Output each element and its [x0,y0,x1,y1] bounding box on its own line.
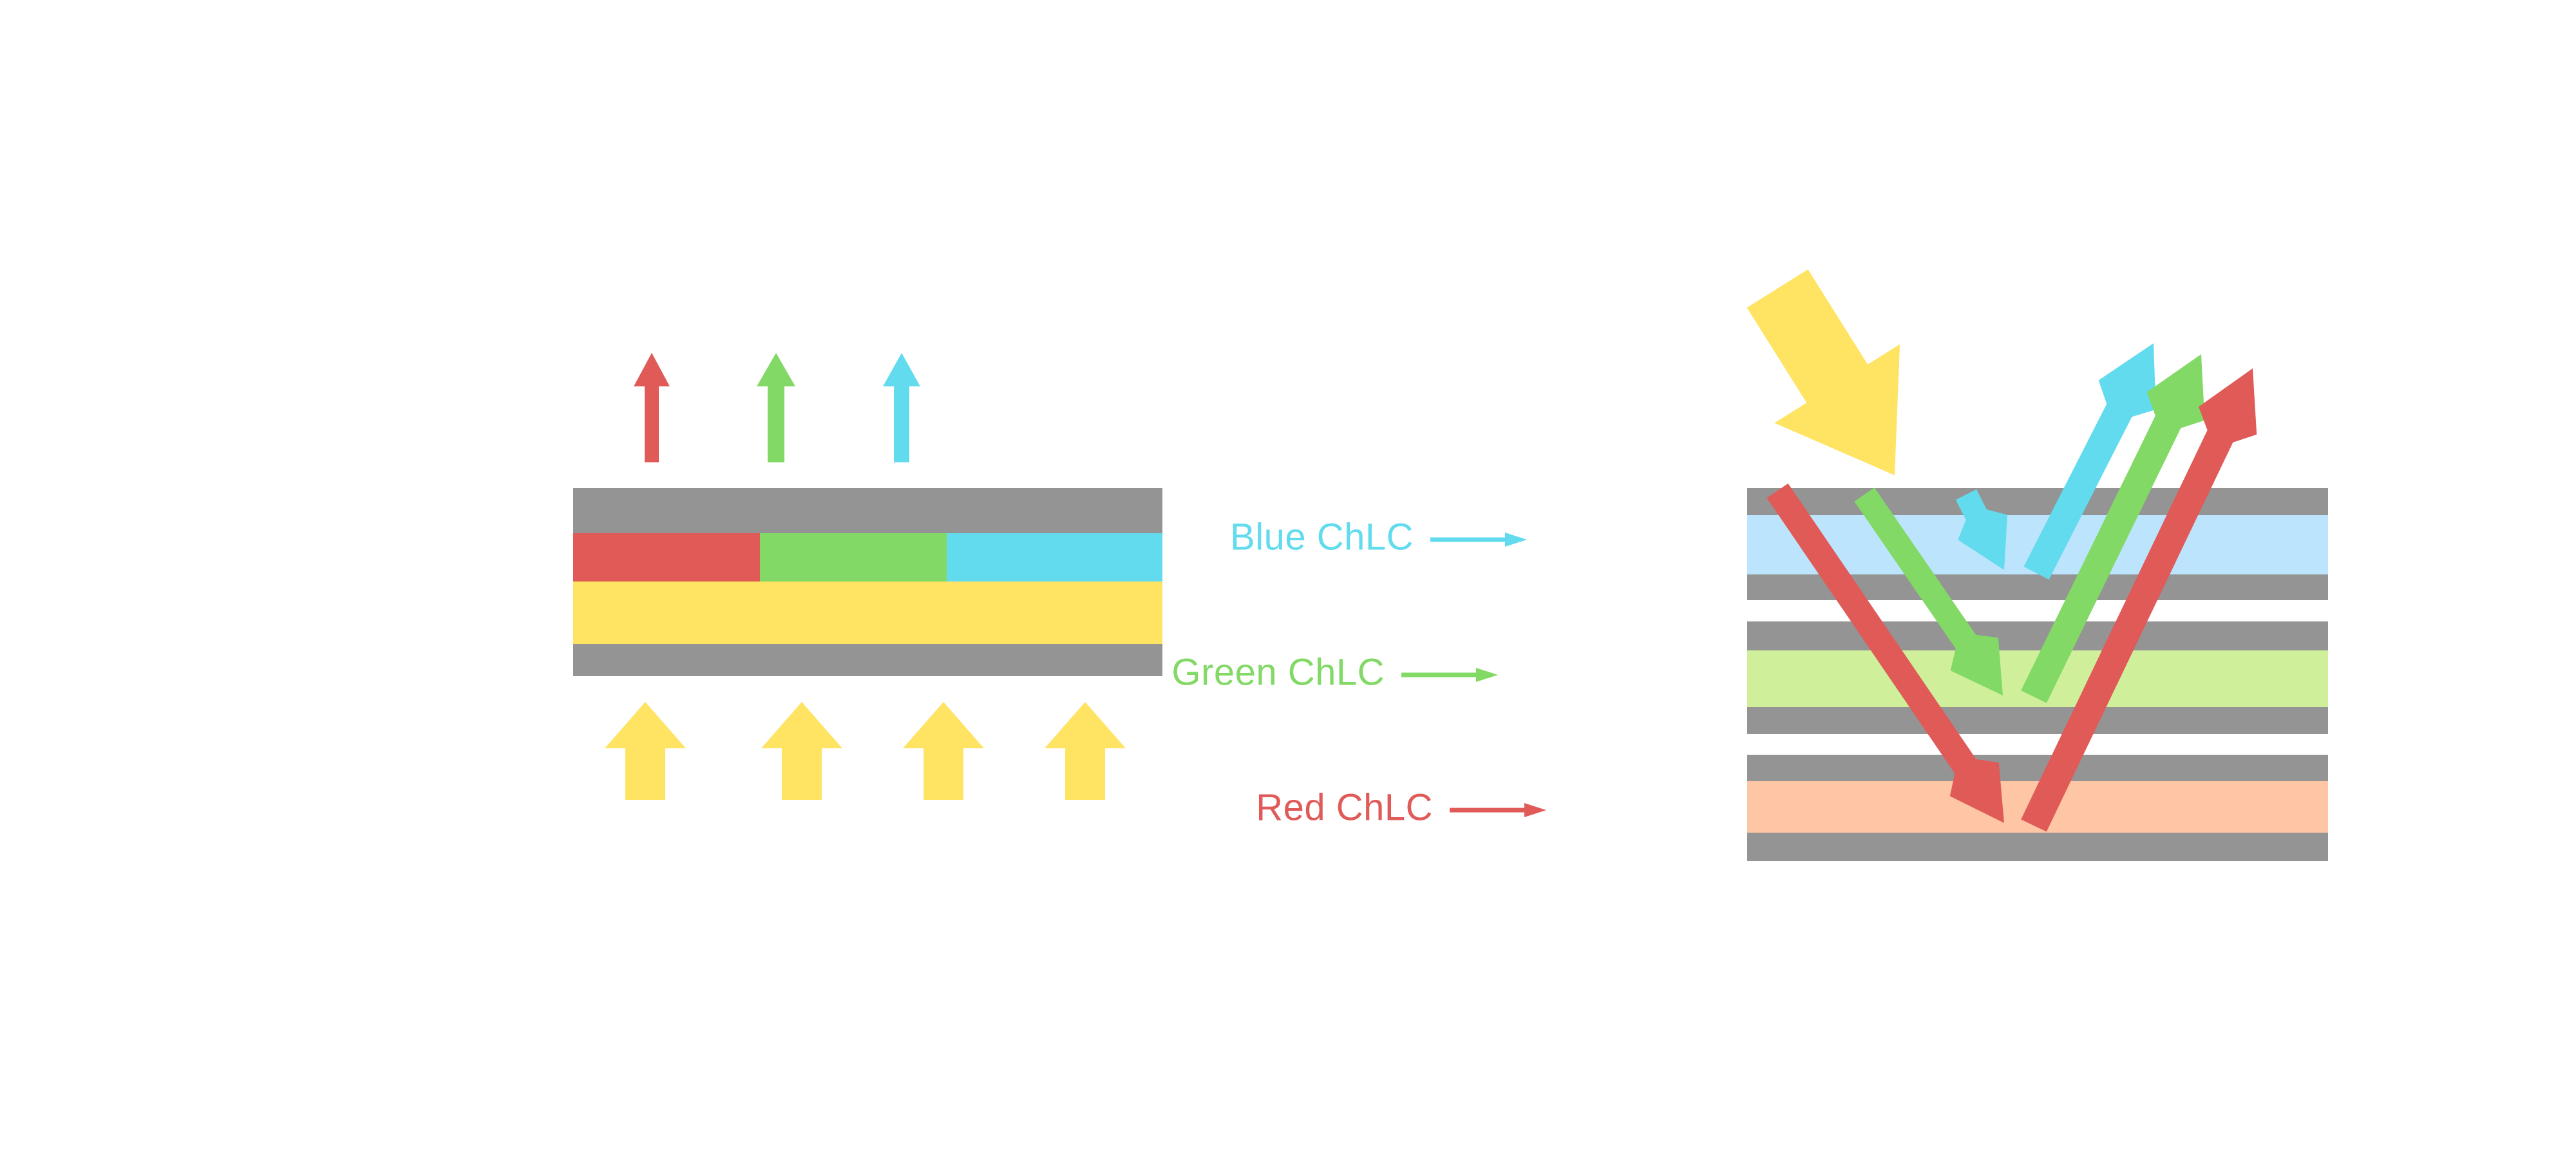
blue-chlc-cell-label: Blue ChLC [1230,516,1414,558]
backlight-arrow-3 [903,702,984,800]
green-subpixel [760,533,947,582]
blue-chlc-cell-top-electrode [1747,488,2328,515]
emitted-blue-arrow [883,353,920,462]
blue-subpixel [947,533,1162,582]
green-chlc-cell-label: Green ChLC [1171,651,1385,693]
red-subpixel [573,533,760,582]
green-chlc-cell-bottom-electrode [1747,707,2328,734]
red-chlc-cell-label-pointer-arrow-icon [1450,803,1546,817]
ambient-light-arrow [1747,269,1900,475]
layer-label-group: Blue ChLCGreen ChLCRed ChLC [1171,516,1546,828]
emitted-red-arrow [634,353,670,462]
red-chlc-cell-top-electrode [1747,755,2328,781]
emissive-stack-panel [573,353,1162,800]
blue-chlc-cell-label-pointer-arrow-icon [1430,533,1527,547]
reflective-stack-panel [1747,269,2328,861]
diagram-canvas: Blue ChLCGreen ChLCRed ChLC [0,0,2576,1154]
green-chlc-cell-label-pointer-arrow-icon [1401,668,1498,682]
red-chlc-cell-label: Red ChLC [1256,786,1433,828]
backlight-arrow-2 [761,702,842,800]
bottom-electrode [573,644,1162,676]
red-chlc-cell-bottom-electrode [1747,833,2328,861]
emitted-green-arrow [757,353,795,462]
figure-svg: Blue ChLCGreen ChLCRed ChLC [0,0,2576,1154]
backlight-arrow-4 [1045,702,1126,800]
top-electrode [573,488,1162,533]
green-chlc-cell-top-electrode [1747,621,2328,650]
backlight-arrow-1 [605,702,686,800]
backlight-layer [573,582,1162,644]
